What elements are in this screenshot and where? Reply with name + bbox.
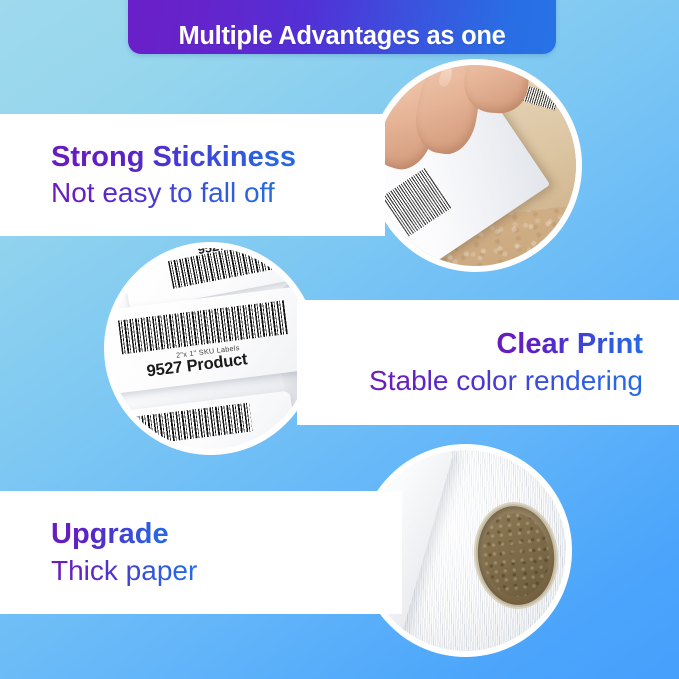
feature-band-stickiness: Strong Stickiness Not easy to fall off bbox=[0, 114, 385, 236]
label-roll-barcode-photo-inner: 2"x 1" SKU Labels 9527 Product 2"x 1" SK… bbox=[110, 248, 311, 449]
feature-band-upgrade: Upgrade Thick paper bbox=[0, 491, 402, 614]
feature-band-clear-print: Clear Print Stable color rendering bbox=[297, 300, 679, 425]
header-banner: Multiple Advantages as one bbox=[128, 0, 556, 54]
fingernail-two bbox=[437, 65, 455, 88]
peeling-label-photo-inner bbox=[375, 65, 576, 266]
feature-title-upgrade: Upgrade bbox=[51, 517, 169, 552]
feature-title-stickiness: Strong Stickiness bbox=[51, 140, 296, 175]
feature-subtitle-upgrade: Thick paper bbox=[51, 553, 197, 588]
feature-subtitle-clear-print: Stable color rendering bbox=[369, 363, 643, 398]
banner-title: Multiple Advantages as one bbox=[178, 24, 505, 50]
barcode-bottom bbox=[110, 403, 253, 449]
feature-band-stickiness-content: Strong Stickiness Not easy to fall off bbox=[51, 114, 367, 236]
feature-band-clear-print-content: Clear Print Stable color rendering bbox=[315, 300, 643, 425]
peeling-label-photo bbox=[369, 59, 582, 272]
feature-band-upgrade-content: Upgrade Thick paper bbox=[51, 491, 384, 614]
label-roll-barcode-photo: 2"x 1" SKU Labels 9527 Product 2"x 1" SK… bbox=[104, 242, 317, 455]
product-feature-poster: Multiple Advantages as one Strong Sticki… bbox=[0, 0, 679, 679]
feature-title-clear-print: Clear Print bbox=[496, 327, 643, 362]
feature-subtitle-stickiness: Not easy to fall off bbox=[51, 175, 275, 210]
